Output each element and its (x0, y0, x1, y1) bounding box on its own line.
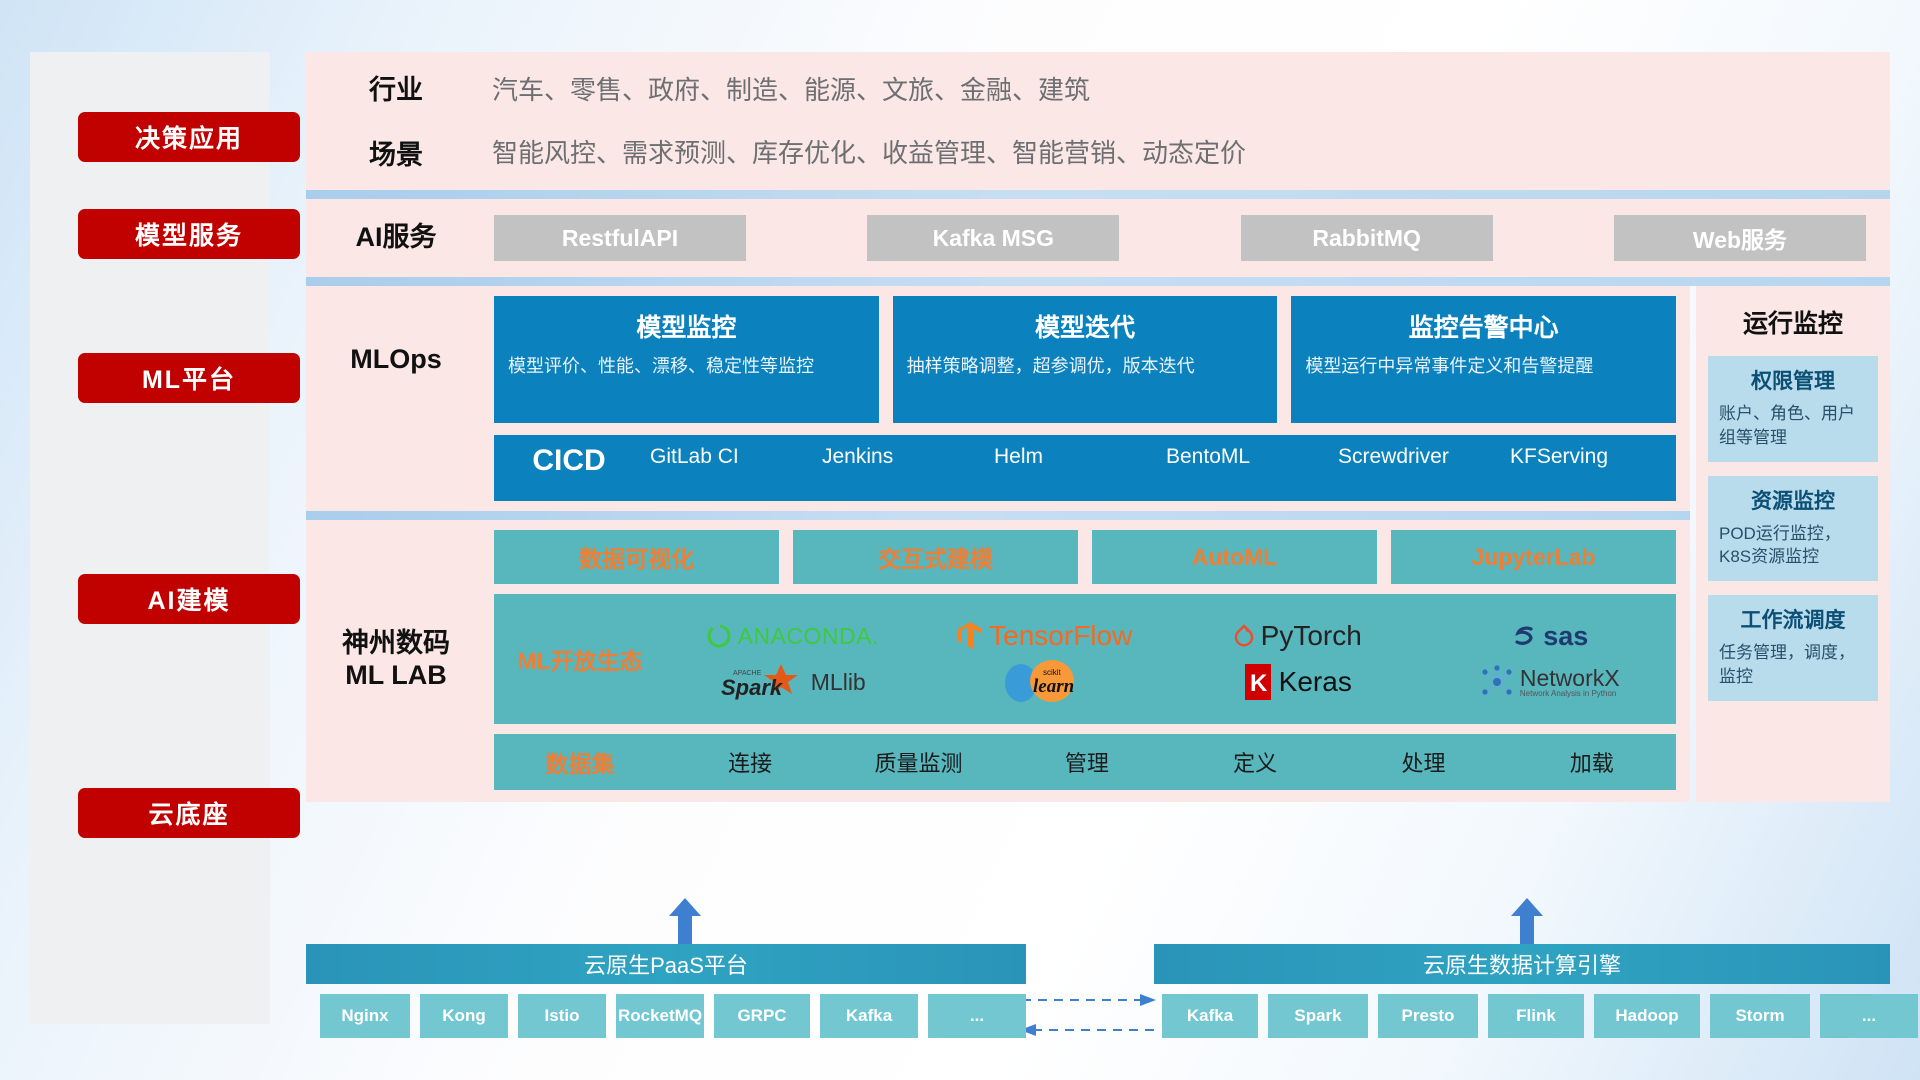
ai-service-chips: RestfulAPI Kafka MSG RabbitMQ Web服务 (486, 215, 1866, 261)
cicd-item-gitlab-ci[interactable]: GitLab CI (644, 444, 816, 470)
logo-text: ANACONDA. (738, 623, 879, 650)
platform-main: MLOps 模型监控 模型评价、性能、漂移、稳定性等监控 模型迭代 抽样策略调整… (306, 286, 1690, 802)
cloud-tag-grpc[interactable]: GRPC (714, 994, 810, 1038)
dataset-label: 数据集 (494, 745, 666, 779)
up-arrow-left-icon (668, 898, 702, 946)
dataset-item-connect[interactable]: 连接 (666, 746, 834, 778)
rail-label: 模型服务 (135, 216, 243, 252)
chip-web-service[interactable]: Web服务 (1614, 215, 1866, 261)
logo-text: Keras (1279, 666, 1352, 698)
cicd-item-jenkins[interactable]: Jenkins (816, 444, 988, 470)
logo-text: TensorFlow (989, 620, 1132, 652)
pytorch-logo: PyTorch (1171, 620, 1424, 652)
rail-label: ML平台 (142, 360, 236, 396)
scenario-value: 智能风控、需求预测、库存优化、收益管理、智能营销、动态定价 (492, 133, 1890, 170)
rail-item-ml-platform[interactable]: ML平台 (78, 353, 300, 403)
cicd-item-bentoml[interactable]: BentoML (1160, 444, 1332, 470)
industry-value: 汽车、零售、政府、制造、能源、文旅、金融、建筑 (492, 70, 1890, 107)
card-title: 工作流调度 (1719, 604, 1867, 634)
tensorflow-icon (957, 621, 983, 651)
svg-text:learn: learn (1033, 676, 1074, 697)
rail-item-cloud-base[interactable]: 云底座 (78, 788, 300, 838)
platform-wrap: MLOps 模型监控 模型评价、性能、漂移、稳定性等监控 模型迭代 抽样策略调整… (306, 286, 1890, 802)
rail-label: 云底座 (148, 795, 229, 831)
scikit-learn-icon: scikit learn (997, 659, 1093, 705)
mlops-cards: 模型监控 模型评价、性能、漂移、稳定性等监控 模型迭代 抽样策略调整，超参调优，… (486, 296, 1676, 423)
cicd-strip: CICD GitLab CI Jenkins Helm BentoML Scre… (494, 435, 1676, 501)
cloud-tags-left: Nginx Kong Istio RocketMQ GRPC Kafka ... (320, 994, 1026, 1038)
chip-kafka-msg[interactable]: Kafka MSG (867, 215, 1119, 261)
cloud-base-section: 云原生PaaS平台 云原生数据计算引擎 Nginx Kong Istio Roc… (306, 898, 1890, 1028)
rail-item-model-service[interactable]: 模型服务 (78, 209, 300, 259)
spark-mllib-logo: Spark APACHE MLlib (666, 662, 919, 702)
sas-logo: sas (1424, 621, 1677, 652)
rail-item-decision[interactable]: 决策应用 (78, 112, 300, 162)
cicd-item-kfserving[interactable]: KFServing (1504, 444, 1676, 470)
ai-modeling-body: 数据可视化 交互式建模 AutoML JupyterLab ML开放生态 (486, 530, 1676, 790)
ai-modeling-label: 神州数码 ML LAB (306, 530, 486, 790)
card-desc: 任务管理，调度，监控 (1719, 641, 1867, 689)
keras-logo: K Keras (1171, 662, 1424, 702)
cloud-tag-istio[interactable]: Istio (518, 994, 606, 1038)
monitoring-card-workflow[interactable]: 工作流调度 任务管理，调度，监控 (1708, 595, 1878, 701)
mlops-label: MLOps (306, 296, 486, 423)
cloud-tag-kafka[interactable]: Kafka (820, 994, 918, 1038)
logo-text: PyTorch (1261, 620, 1362, 652)
rail-label: 决策应用 (135, 119, 243, 155)
tool-data-visualization[interactable]: 数据可视化 (494, 530, 779, 584)
scikit-learn-logo: scikit learn (919, 659, 1172, 705)
architecture-stack: 行业 场景 汽车、零售、政府、制造、能源、文旅、金融、建筑 智能风控、需求预测、… (306, 52, 1890, 802)
networkx-icon (1480, 665, 1514, 699)
ecosystem-panel: ML开放生态 ANACONDA. (494, 594, 1676, 724)
card-title: 模型迭代 (907, 308, 1264, 344)
cloud-tag-kafka-2[interactable]: Kafka (1162, 994, 1258, 1038)
dataset-item-define[interactable]: 定义 (1171, 746, 1339, 778)
logo-text: sas (1543, 621, 1588, 652)
mlops-card-model-iteration[interactable]: 模型迭代 抽样策略调整，超参调优，版本迭代 (893, 296, 1278, 423)
pytorch-icon (1233, 623, 1255, 649)
card-desc: 抽样策略调整，超参调优，版本迭代 (907, 353, 1264, 379)
cloud-tag-spark[interactable]: Spark (1268, 994, 1368, 1038)
anaconda-logo: ANACONDA. (666, 623, 919, 650)
dataset-item-process[interactable]: 处理 (1339, 746, 1507, 778)
dataset-item-quality[interactable]: 质量监测 (834, 746, 1002, 778)
networkx-tagline: Network Analysis in Python (1520, 690, 1620, 698)
bidirectional-dashed-connector (1018, 986, 1158, 1044)
modeling-tools-row: 数据可视化 交互式建模 AutoML JupyterLab (494, 530, 1676, 584)
networkx-logo: NetworkX Network Analysis in Python (1424, 665, 1677, 699)
cloud-tag-more[interactable]: ... (928, 994, 1026, 1038)
tool-automl[interactable]: AutoML (1092, 530, 1377, 584)
dataset-item-load[interactable]: 加载 (1508, 746, 1676, 778)
cloud-tag-hadoop[interactable]: Hadoop (1594, 994, 1700, 1038)
decision-values: 汽车、零售、政府、制造、能源、文旅、金融、建筑 智能风控、需求预测、库存优化、收… (486, 68, 1890, 172)
card-desc: POD运行监控，K8S资源监控 (1719, 522, 1867, 570)
dataset-items: 连接 质量监测 管理 定义 处理 加载 (666, 746, 1676, 778)
monitoring-title: 运行监控 (1708, 304, 1878, 340)
card-desc: 模型评价、性能、漂移、稳定性等监控 (508, 353, 865, 379)
chip-restful-api[interactable]: RestfulAPI (494, 215, 746, 261)
band-separator-1 (306, 190, 1890, 199)
mlops-card-model-monitoring[interactable]: 模型监控 模型评价、性能、漂移、稳定性等监控 (494, 296, 879, 423)
tensorflow-logo: TensorFlow (919, 620, 1172, 652)
cloud-tag-more-2[interactable]: ... (1820, 994, 1918, 1038)
cicd-title: CICD (494, 444, 644, 478)
card-title: 权限管理 (1719, 365, 1867, 395)
cloud-tags-right: Kafka Spark Presto Flink Hadoop Storm ..… (1162, 994, 1918, 1038)
logo-text: MLlib (811, 669, 866, 696)
cicd-items: GitLab CI Jenkins Helm BentoML Screwdriv… (644, 444, 1676, 470)
decision-band: 行业 场景 汽车、零售、政府、制造、能源、文旅、金融、建筑 智能风控、需求预测、… (306, 52, 1890, 190)
up-arrow-right-icon (1510, 898, 1544, 946)
cicd-item-screwdriver[interactable]: Screwdriver (1332, 444, 1504, 470)
cloud-tag-kong[interactable]: Kong (420, 994, 508, 1038)
sas-icon (1511, 623, 1537, 649)
layer-rail: 决策应用 模型服务 ML平台 AI建模 云底座 (30, 52, 270, 1024)
ai-service-label: AI服务 (306, 222, 486, 254)
cloud-tag-presto[interactable]: Presto (1378, 994, 1478, 1038)
cloud-tag-rocketmq[interactable]: RocketMQ (616, 994, 704, 1038)
mlops-section: MLOps 模型监控 模型评价、性能、漂移、稳定性等监控 模型迭代 抽样策略调整… (306, 286, 1690, 435)
monitoring-card-permission[interactable]: 权限管理 账户、角色、用户组等管理 (1708, 356, 1878, 462)
chip-rabbitmq[interactable]: RabbitMQ (1241, 215, 1493, 261)
rail-label: AI建模 (147, 581, 230, 617)
cloud-bar-paas[interactable]: 云原生PaaS平台 (306, 944, 1026, 984)
card-desc: 账户、角色、用户组等管理 (1719, 402, 1867, 450)
monitoring-column: 运行监控 权限管理 账户、角色、用户组等管理 资源监控 POD运行监控，K8S资… (1696, 286, 1890, 802)
cicd-item-helm[interactable]: Helm (988, 444, 1160, 470)
cloud-tag-storm[interactable]: Storm (1710, 994, 1810, 1038)
ecosystem-logos: ANACONDA. TensorFlow (666, 613, 1676, 705)
card-title: 模型监控 (508, 308, 865, 344)
ai-modeling-label-line1: 神州数码 (342, 628, 450, 660)
mlops-card-alert-center[interactable]: 监控告警中心 模型运行中异常事件定义和告警提醒 (1291, 296, 1676, 423)
dataset-row: 数据集 连接 质量监测 管理 定义 处理 加载 (494, 734, 1676, 790)
ai-modeling-section: 神州数码 ML LAB 数据可视化 交互式建模 AutoML JupyterLa… (306, 520, 1690, 802)
dataset-item-manage[interactable]: 管理 (1003, 746, 1171, 778)
svg-text:K: K (1250, 670, 1268, 697)
logo-text: NetworkX (1520, 667, 1620, 690)
monitoring-card-resource[interactable]: 资源监控 POD运行监控，K8S资源监控 (1708, 476, 1878, 582)
band-separator-2 (306, 277, 1890, 286)
tool-jupyterlab[interactable]: JupyterLab (1391, 530, 1676, 584)
anaconda-icon (706, 623, 732, 649)
diagram-canvas: 决策应用 模型服务 ML平台 AI建模 云底座 行业 场景 汽车、零售、政府、制… (0, 0, 1920, 1080)
svg-text:Spark: Spark (721, 675, 784, 700)
card-title: 资源监控 (1719, 485, 1867, 515)
band-separator-3 (306, 511, 1690, 520)
svg-text:APACHE: APACHE (733, 670, 762, 677)
tool-interactive-modeling[interactable]: 交互式建模 (793, 530, 1078, 584)
keras-icon: K (1243, 662, 1273, 702)
ecosystem-label: ML开放生态 (494, 642, 666, 676)
ai-service-band: AI服务 RestfulAPI Kafka MSG RabbitMQ Web服务 (306, 199, 1890, 277)
cloud-bar-engine[interactable]: 云原生数据计算引擎 (1154, 944, 1890, 984)
rail-item-ai-modeling[interactable]: AI建模 (78, 574, 300, 624)
spark-icon: Spark APACHE (719, 662, 805, 702)
ai-modeling-label-line2: ML LAB (342, 660, 450, 692)
card-title: 监控告警中心 (1305, 308, 1662, 344)
cloud-tag-nginx[interactable]: Nginx (320, 994, 410, 1038)
industry-label: 行业 (306, 68, 486, 107)
scenario-label: 场景 (306, 133, 486, 172)
cloud-tag-flink[interactable]: Flink (1488, 994, 1584, 1038)
card-desc: 模型运行中异常事件定义和告警提醒 (1305, 353, 1662, 379)
decision-labels: 行业 场景 (306, 68, 486, 172)
